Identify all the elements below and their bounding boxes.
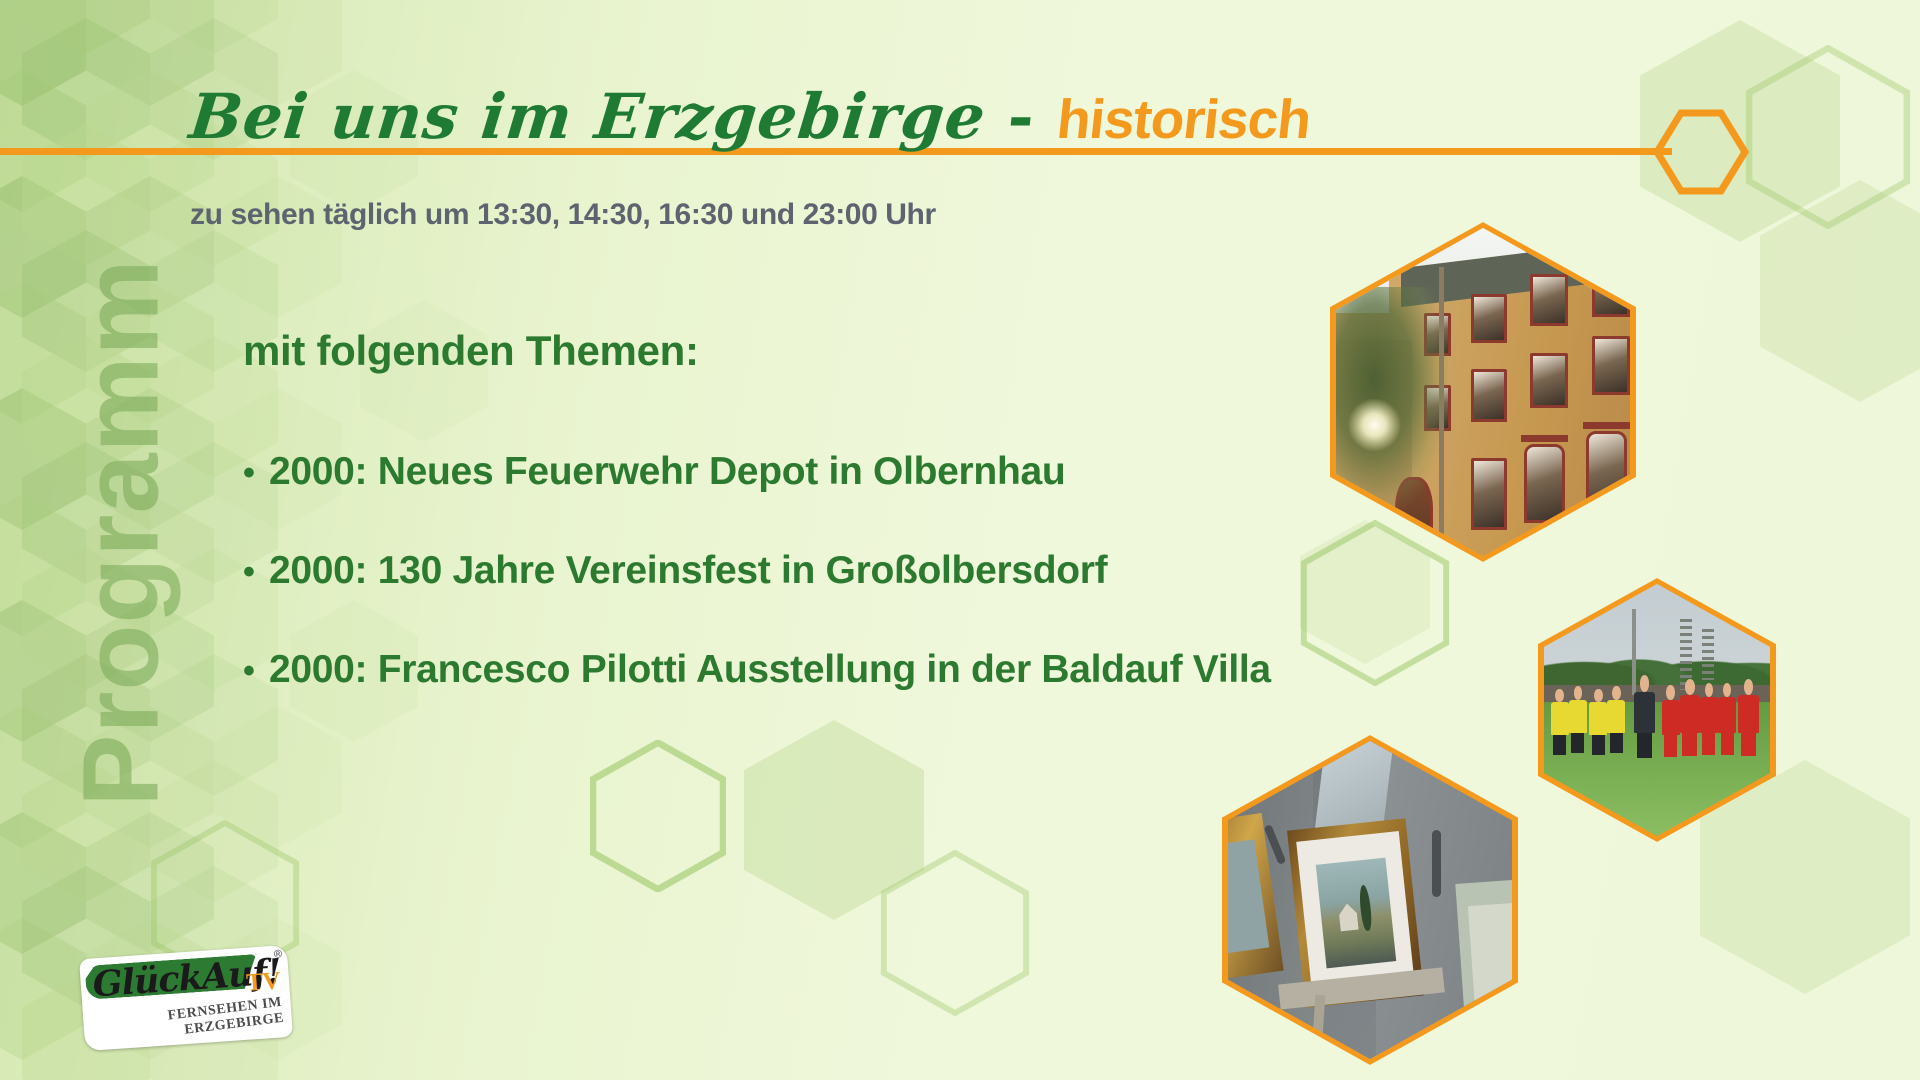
photo-clip bbox=[1544, 584, 1770, 836]
broadcast-times-subtitle: zu sehen täglich um 13:30, 14:30, 16:30 … bbox=[190, 198, 936, 232]
list-item-label: 2000: Neues Feuerwehr Depot in Olbernhau bbox=[269, 450, 1065, 494]
page-title-accent: historisch bbox=[1054, 87, 1314, 151]
topics-intro-heading: mit folgenden Themen: bbox=[243, 327, 699, 375]
hexagon-outline-icon bbox=[1653, 109, 1749, 195]
photo-paintings-image bbox=[1228, 741, 1512, 1059]
photo-paintings bbox=[1222, 735, 1518, 1065]
hexagon-icon bbox=[1760, 180, 1920, 402]
registered-trademark-icon: ® bbox=[274, 948, 283, 961]
glueckauf-tv-logo[interactable]: GlückAuf! ® TV FERNSEHEN IM ERZGEBIRGE bbox=[79, 945, 293, 1051]
slide-canvas: Bei uns im Erzgebirge - historisch zu se… bbox=[0, 0, 1920, 1080]
hexagon-icon bbox=[0, 918, 86, 1060]
slide-header: Bei uns im Erzgebirge - historisch zu se… bbox=[0, 0, 1920, 210]
sidebar-vertical-label: Programm bbox=[58, 183, 183, 883]
list-item: • 2000: 130 Jahre Vereinsfest in Großolb… bbox=[243, 549, 1343, 593]
photo-clip bbox=[1228, 741, 1512, 1059]
topics-list: • 2000: Neues Feuerwehr Depot in Olbernh… bbox=[243, 450, 1343, 747]
bullet-marker-icon: • bbox=[243, 555, 269, 589]
photo-building bbox=[1330, 222, 1636, 562]
list-item: • 2000: Francesco Pilotti Ausstellung in… bbox=[243, 648, 1343, 692]
hexagon-outline-icon bbox=[590, 740, 726, 892]
list-item-label: 2000: Francesco Pilotti Ausstellung in d… bbox=[269, 648, 1271, 692]
list-item: • 2000: Neues Feuerwehr Depot in Olbernh… bbox=[243, 450, 1343, 494]
list-item-label: 2000: 130 Jahre Vereinsfest in Großolber… bbox=[269, 549, 1107, 593]
hexagon-icon bbox=[744, 720, 924, 920]
page-title-dash: - bbox=[1004, 80, 1038, 153]
photo-soccer bbox=[1538, 578, 1776, 842]
photo-building-image bbox=[1336, 228, 1630, 556]
bullet-marker-icon: • bbox=[243, 456, 269, 490]
logo-name-part1: Glück bbox=[91, 957, 203, 1006]
bullet-marker-icon: • bbox=[243, 654, 269, 688]
page-title: Bei uns im Erzgebirge - historisch bbox=[186, 80, 1314, 153]
photo-soccer-image bbox=[1544, 584, 1770, 836]
photo-clip bbox=[1336, 228, 1630, 556]
page-title-main: Bei uns im Erzgebirge bbox=[186, 80, 989, 153]
logo-tv-suffix: TV bbox=[245, 967, 281, 997]
hexagon-outline-icon bbox=[880, 850, 1030, 1016]
